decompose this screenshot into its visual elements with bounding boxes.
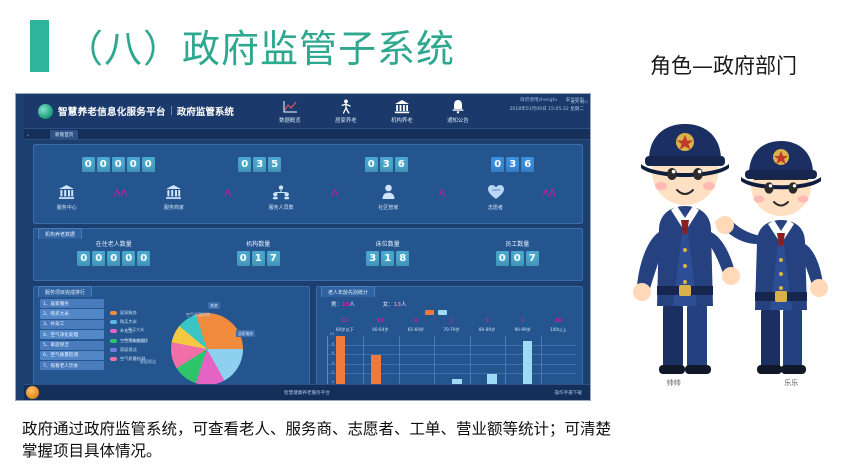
pie-label-top-b: 空气质量检测 <box>186 312 210 318</box>
overview-icons-row: 服务中心 ⋀⋀ 服务商家 ⋀ 服务人员数 <box>34 175 582 211</box>
svg-text:Love: Love <box>491 188 500 192</box>
bar-女-90-99岁 <box>523 341 533 384</box>
pie-chart: 其他 居家服务 购买大米 空气净化处理 家庭保洁 空气质量检测 <box>162 304 252 394</box>
overview-spark-3: ⋀ <box>308 182 362 202</box>
grid-line <box>328 364 576 365</box>
mascot-right <box>715 141 828 374</box>
male-unit: 人 <box>349 302 354 308</box>
overview-spark-4: ⋀ <box>415 182 469 202</box>
grid-line <box>328 345 576 346</box>
female-value: 13 <box>394 302 402 308</box>
overview-spark-2: ⋀ <box>201 182 255 202</box>
age-gender-panel: 老人年龄先别统计 男：10人 女：13人 <box>316 286 583 390</box>
overview-card-volunteer[interactable]: Love 志愿者 <box>469 182 523 211</box>
age-gender-panel-tab[interactable]: 老人年龄先别统计 <box>321 286 375 297</box>
current-user: 政府使用zhengfu <box>520 98 557 103</box>
bank-icon <box>58 182 75 202</box>
institution-card-institutions: 机构数量 017 <box>237 239 280 266</box>
digit-group-service-center: 00000 <box>82 157 155 172</box>
service-rank-list: 1、居家服务 2、购买大米 3、补处工 4、空气净化处理 5、家庭保洁 6、空气… <box>40 299 104 372</box>
mascot-names: 帅帅 乐乐 <box>615 378 850 388</box>
axis-tick: 65-69岁 <box>398 327 434 333</box>
mascot-right-name: 乐乐 <box>784 378 798 388</box>
overview-card-service-merchant[interactable]: 服务商家 <box>147 182 201 211</box>
bar-plot-area: 0246810 <box>327 336 576 385</box>
tab-strip: ⌂ 新版首页 <box>24 129 590 140</box>
axis-tick: 100以上 <box>540 327 576 333</box>
dashboard-header: 智慧养老信息化服务平台 | 政府监管系统 数据概览 居家养老 <box>24 94 590 129</box>
male-summary: 男：10人 <box>331 300 355 308</box>
grid-line <box>434 336 435 384</box>
legend-label: 居家服务 <box>120 310 137 316</box>
legend-swatch-male <box>425 310 434 315</box>
gender-summary: 男：10人 女：13人 <box>331 300 406 308</box>
nav-label: 机构养老 <box>391 116 413 124</box>
overview-digits-row: 00000 035 036 036 <box>34 154 582 175</box>
bar-legend <box>425 310 447 315</box>
overview-panel: 00000 035 036 036 <box>33 144 583 224</box>
pie-label-top: 其他 <box>208 302 220 309</box>
institution-card-beds: 床位数量 318 <box>366 239 409 266</box>
service-rank-panel-tab[interactable]: 服务项目完成排行 <box>38 286 92 297</box>
nav-item-home-care[interactable]: 居家养老 <box>318 98 374 124</box>
legend-entry[interactable]: 购买大米 <box>110 319 145 325</box>
list-item[interactable]: 5、家庭保洁 <box>40 341 104 350</box>
page-title: （八）政府监管子系统 <box>65 18 455 73</box>
bank-icon <box>165 182 182 202</box>
pie-label-left-a: 购买大米 <box>128 327 144 333</box>
people-group-icon <box>272 182 290 202</box>
list-item[interactable]: 3、补处工 <box>40 320 104 329</box>
slide-caption: 政府通过政府监管系统，可查看老人、服务商、志愿者、工单、营业额等统计；可清楚掌握… <box>22 418 622 462</box>
bar-value: 10 <box>540 318 576 324</box>
heart-love-icon: Love <box>487 182 505 202</box>
legend-entry[interactable]: 居家服务 <box>110 310 145 316</box>
dashboard-footer: 智慧健康养老服务平台 操作手册下载 <box>24 384 590 400</box>
institution-row: 在住老人数量 00000 机构数量 017 床位数量 <box>34 239 582 266</box>
card-label: 服务中心 <box>57 204 77 211</box>
legend-swatch-female <box>438 310 447 315</box>
digit-group-staff: 007 <box>496 251 539 266</box>
digit-group-service-merchant: 035 <box>238 157 281 172</box>
legend-swatch <box>110 357 117 361</box>
window-controls-icon[interactable]: 放大 缩小 <box>571 99 588 104</box>
grid-line <box>363 336 364 384</box>
header-datetime: 2018年01月09日 15:05:32 星期二 <box>510 107 585 114</box>
person-walking-icon <box>339 98 353 114</box>
legend-entry[interactable]: 家庭保洁 <box>110 347 145 353</box>
charts-row: 服务项目完成排行 1、居家服务 2、购买大米 3、补处工 4、空气净化处理 5、… <box>33 286 583 390</box>
tab-home-icon: ⌂ <box>27 132 31 136</box>
card-label: 员工数量 <box>505 239 529 248</box>
bar-value: 0 <box>398 318 434 324</box>
bar-value: 10 <box>327 318 363 324</box>
axis-tick: 70-79岁 <box>434 327 470 333</box>
card-label: 服务人员数 <box>269 204 294 211</box>
card-label: 在住老人数量 <box>96 239 132 248</box>
overview-card-community-steward[interactable]: 社区管家 <box>362 182 416 211</box>
nav-label: 通知公告 <box>447 116 469 124</box>
digit-group-service-staff: 036 <box>365 157 408 172</box>
institution-card-residents: 在住老人数量 00000 <box>77 239 150 266</box>
platform-logo-icon <box>38 104 53 119</box>
nav-label: 居家养老 <box>335 116 357 124</box>
grid-line <box>328 354 576 355</box>
dashboard-screenshot: 智慧养老信息化服务平台 | 政府监管系统 数据概览 居家养老 <box>15 93 591 401</box>
legend-swatch <box>110 311 117 315</box>
digit-group-beds: 318 <box>366 251 409 266</box>
card-label: 志愿者 <box>488 204 503 211</box>
axis-tick: 4 <box>332 361 334 365</box>
legend-swatch <box>110 320 117 324</box>
mascot-left-name: 帅帅 <box>667 378 681 388</box>
list-item[interactable]: 1、居家服务 <box>40 299 104 308</box>
digit-group-residents: 00000 <box>77 251 150 266</box>
legend-label: 购买大米 <box>120 319 137 325</box>
axis-tick: 2 <box>332 370 334 374</box>
slide-title: （八）政府监管子系统 <box>30 18 455 73</box>
axis-tick: 90-99岁 <box>505 327 541 333</box>
nav-label: 数据概览 <box>279 116 301 124</box>
digit-group-volunteer: 036 <box>491 157 534 172</box>
pie-label-right: 居家服务 <box>236 330 255 337</box>
male-label: 男： <box>331 302 342 308</box>
bar-category-labels: 60岁以下 60-64岁 65-69岁 70-79岁 80-89岁 90-99岁… <box>327 327 576 333</box>
overview-spark-5: ⋀⋀ <box>522 182 576 202</box>
overview-card-service-center[interactable]: 服务中心 <box>40 182 94 211</box>
legend-label: 家庭保洁 <box>120 347 137 353</box>
female-summary: 女：13人 <box>383 300 407 308</box>
legend-swatch <box>110 348 117 352</box>
bar-value: 1 <box>434 318 470 324</box>
female-unit: 人 <box>401 302 406 308</box>
bar-男-60岁以下 <box>336 336 346 384</box>
footer-badge-icon <box>26 386 39 399</box>
system-name: 政府监管系统 <box>177 104 234 118</box>
pie-label-left-b: 空气净化处理 <box>124 338 148 344</box>
bar-女-80-89岁 <box>487 374 497 384</box>
legend-swatch <box>110 339 117 343</box>
nav-item-institution-care[interactable]: 机构养老 <box>374 98 430 124</box>
chart-line-icon <box>282 98 298 114</box>
bank-building-icon <box>394 98 410 114</box>
bar-value: 2 <box>469 318 505 324</box>
card-label: 服务商家 <box>164 204 184 211</box>
overview-card-service-staff[interactable]: 服务人员数 <box>254 182 308 211</box>
y-axis: 0246810 <box>327 336 335 384</box>
axis-tick: 10 <box>330 332 334 336</box>
digit-group-institutions: 017 <box>237 251 280 266</box>
footer-center-text: 智慧健康养老服务平台 <box>284 390 330 396</box>
mascot-left <box>633 124 740 374</box>
bar-value: 13 <box>363 318 399 324</box>
manual-download-link[interactable]: 操作手册下载 <box>554 390 582 396</box>
institution-panel: 机构养老数据 在住老人数量 00000 机构数量 017 <box>33 228 583 281</box>
grid-line <box>505 336 506 384</box>
axis-tick: 60-64岁 <box>363 327 399 333</box>
legend-swatch <box>110 329 117 333</box>
grid-line <box>399 336 400 384</box>
nav-item-announcement[interactable]: 通知公告 <box>430 98 486 124</box>
card-label: 机构数量 <box>246 239 270 248</box>
institution-card-staff: 员工数量 007 <box>496 239 539 266</box>
slide-root: （八）政府监管子系统 角色—政府部门 智慧养老信息化服务平台 | 政府监管系统 … <box>0 0 850 467</box>
list-item[interactable]: 6、空气质量检测 <box>40 351 104 360</box>
grid-line <box>328 373 576 374</box>
card-label: 社区管家 <box>378 204 398 211</box>
header-separator: | <box>170 106 173 116</box>
dashboard-nav: 数据概览 居家养老 机构养老 <box>262 98 486 124</box>
bar-男-60-64岁 <box>371 355 381 384</box>
female-label: 女： <box>383 302 394 308</box>
platform-name: 智慧养老信息化服务平台 <box>58 104 166 118</box>
tab-new-home[interactable]: 新版首页 <box>50 130 78 139</box>
axis-tick: 8 <box>332 342 334 346</box>
axis-tick: 80-89岁 <box>469 327 505 333</box>
grid-line <box>470 336 471 384</box>
overview-spark-1: ⋀⋀ <box>94 182 148 202</box>
card-label: 床位数量 <box>376 239 400 248</box>
axis-tick: 6 <box>332 351 334 355</box>
bar-value-labels: 10 13 0 1 2 0 10 <box>327 318 576 324</box>
grid-line <box>541 336 542 384</box>
person-icon <box>381 182 396 202</box>
list-item[interactable]: 2、购买大米 <box>40 309 104 318</box>
list-item[interactable]: 7、照看老人饮食 <box>40 361 104 370</box>
bar-value: 0 <box>505 318 541 324</box>
institution-panel-tab[interactable]: 机构养老数据 <box>38 228 82 239</box>
role-label: 角色—政府部门 <box>650 50 797 80</box>
pie-label-left-c: 家庭保洁 <box>140 359 156 365</box>
pie-slices <box>171 313 243 385</box>
mascot-illustration: 帅帅 乐乐 <box>615 110 850 400</box>
service-rank-panel: 服务项目完成排行 1、居家服务 2、购买大米 3、补处工 4、空气净化处理 5、… <box>33 286 310 390</box>
list-item[interactable]: 4、空气净化处理 <box>40 330 104 339</box>
bell-icon <box>451 98 465 114</box>
title-accent-bar <box>30 20 49 72</box>
nav-item-data-overview[interactable]: 数据概览 <box>262 98 318 124</box>
